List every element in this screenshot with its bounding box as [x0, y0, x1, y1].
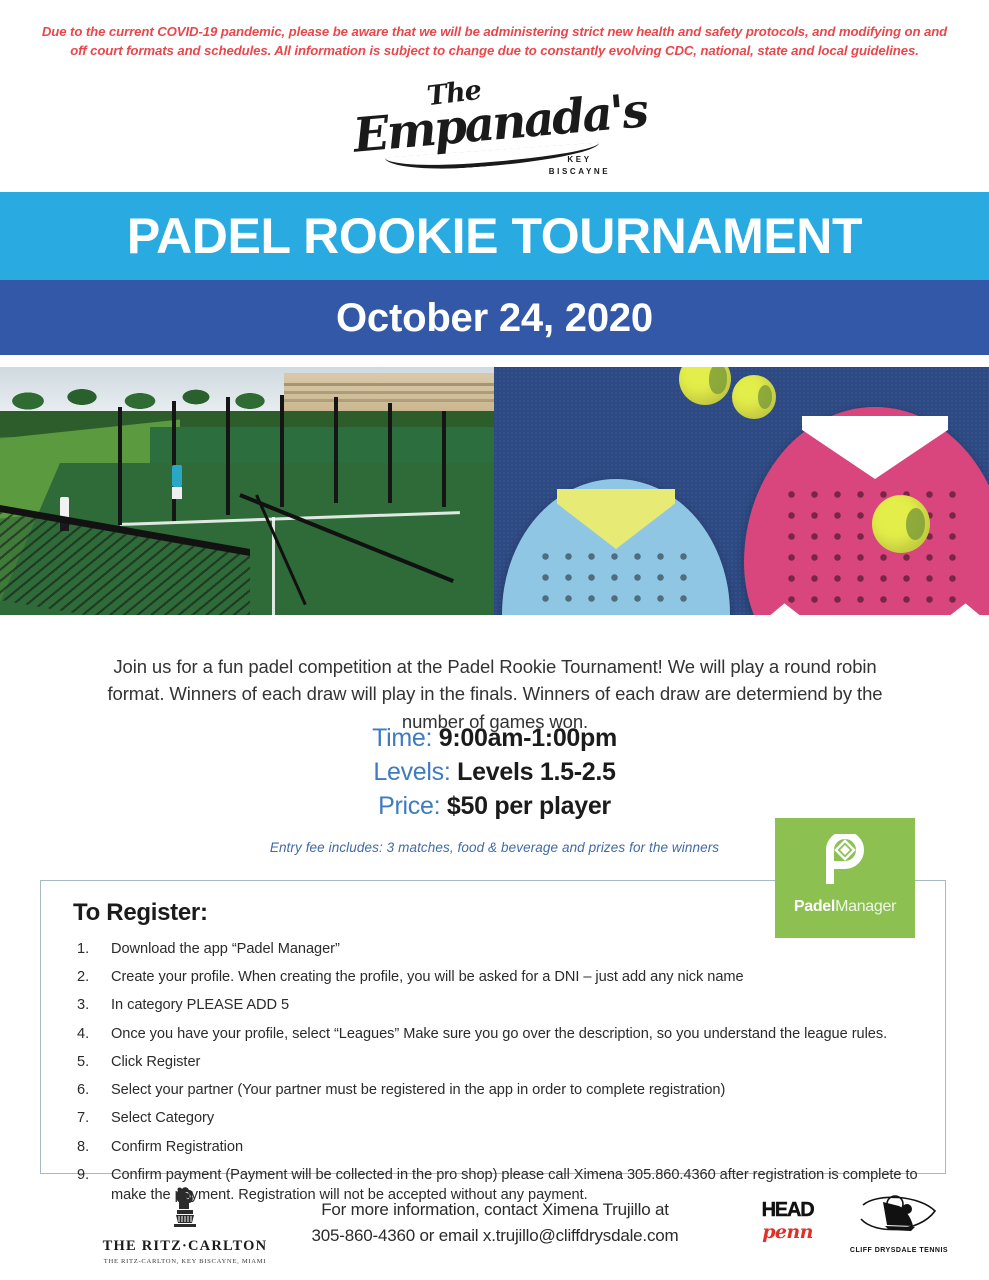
ritz-carlton-property: THE RITZ-CARLTON, KEY BISCAYNE, MIAMI — [80, 1258, 290, 1265]
covid-notice: Due to the current COVID-19 pandemic, pl… — [40, 22, 949, 60]
list-item: 8.Confirm Registration — [65, 1137, 925, 1158]
empanadas-logo: The Empanada's KEY BISCAYNE — [0, 76, 989, 182]
detail-levels-value: Levels 1.5-2.5 — [457, 758, 615, 786]
ritz-carlton-name: THE RITZ·CARLTON — [80, 1238, 290, 1255]
step-number: 3. — [77, 995, 103, 1016]
registration-steps: 1.Download the app “Padel Manager” 2.Cre… — [65, 939, 925, 1214]
step-text: Confirm payment (Payment will be collect… — [111, 1167, 918, 1204]
step-number: 8. — [77, 1137, 103, 1158]
padel-manager-mark-icon — [822, 834, 868, 884]
list-item: 3.In category PLEASE ADD 5 — [65, 995, 925, 1016]
list-item: 6.Select your partner (Your partner must… — [65, 1080, 925, 1101]
list-item: 2.Create your profile. When creating the… — [65, 967, 925, 988]
detail-time: Time: 9:00am-1:00pm — [0, 722, 989, 756]
tournament-flyer: Due to the current COVID-19 pandemic, pl… — [0, 0, 989, 1280]
event-date: October 24, 2020 — [336, 298, 653, 338]
event-details: Time: 9:00am-1:00pm Levels: Levels 1.5-2… — [0, 722, 989, 823]
padel-manager-logo: PadelManager — [775, 818, 915, 938]
detail-price-value: $50 per player — [447, 792, 611, 820]
step-text: Create your profile. When creating the p… — [111, 969, 744, 985]
list-item: 5.Click Register — [65, 1052, 925, 1073]
step-number: 7. — [77, 1108, 103, 1129]
step-number: 4. — [77, 1024, 103, 1045]
logo-location-line1: KEY — [567, 155, 591, 164]
padel-manager-wordmark: PadelManager — [775, 898, 915, 916]
step-number: 1. — [77, 939, 103, 960]
step-text: Select Category — [111, 1110, 214, 1126]
list-item: 4.Once you have your profile, select “Le… — [65, 1024, 925, 1045]
detail-price-label: Price: — [378, 792, 440, 820]
step-text: Click Register — [111, 1054, 200, 1070]
padel-manager-light: Manager — [835, 898, 896, 915]
step-text: Select your partner (Your partner must b… — [111, 1082, 725, 1098]
detail-levels: Levels: Levels 1.5-2.5 — [0, 756, 989, 790]
detail-time-label: Time: — [372, 724, 432, 752]
step-number: 6. — [77, 1080, 103, 1101]
list-item: 7.Select Category — [65, 1108, 925, 1129]
step-text: Download the app “Padel Manager” — [111, 941, 340, 957]
photo-strip — [0, 367, 989, 615]
step-text: Confirm Registration — [111, 1139, 243, 1155]
step-number: 5. — [77, 1052, 103, 1073]
penn-wordmark: penn — [735, 1221, 840, 1243]
logo-location: KEY BISCAYNE — [525, 154, 635, 178]
logo-location-line2: BISCAYNE — [549, 167, 610, 176]
padel-courts-photo — [0, 367, 494, 615]
detail-time-value: 9:00am-1:00pm — [439, 724, 617, 752]
detail-levels-label: Levels: — [373, 758, 450, 786]
cliff-drysdale-name: CLIFF DRYSDALE TENNIS — [845, 1247, 953, 1254]
step-number: 2. — [77, 967, 103, 988]
step-text: Once you have your profile, select “Leag… — [111, 1026, 887, 1042]
page-title: PADEL ROOKIE TOURNAMENT — [127, 211, 862, 261]
step-number: 9. — [77, 1165, 103, 1186]
register-heading: To Register: — [73, 899, 208, 927]
padel-rackets-photo — [494, 367, 989, 615]
list-item: 9.Confirm payment (Payment will be colle… — [65, 1165, 925, 1206]
date-banner: October 24, 2020 — [0, 280, 989, 355]
list-item: 1.Download the app “Padel Manager” — [65, 939, 925, 960]
contact-line-2: 305-860-4360 or email x.trujillo@cliffdr… — [270, 1223, 720, 1249]
step-text: In category PLEASE ADD 5 — [111, 997, 289, 1013]
title-banner: PADEL ROOKIE TOURNAMENT — [0, 192, 989, 280]
padel-manager-bold: Padel — [794, 898, 835, 915]
